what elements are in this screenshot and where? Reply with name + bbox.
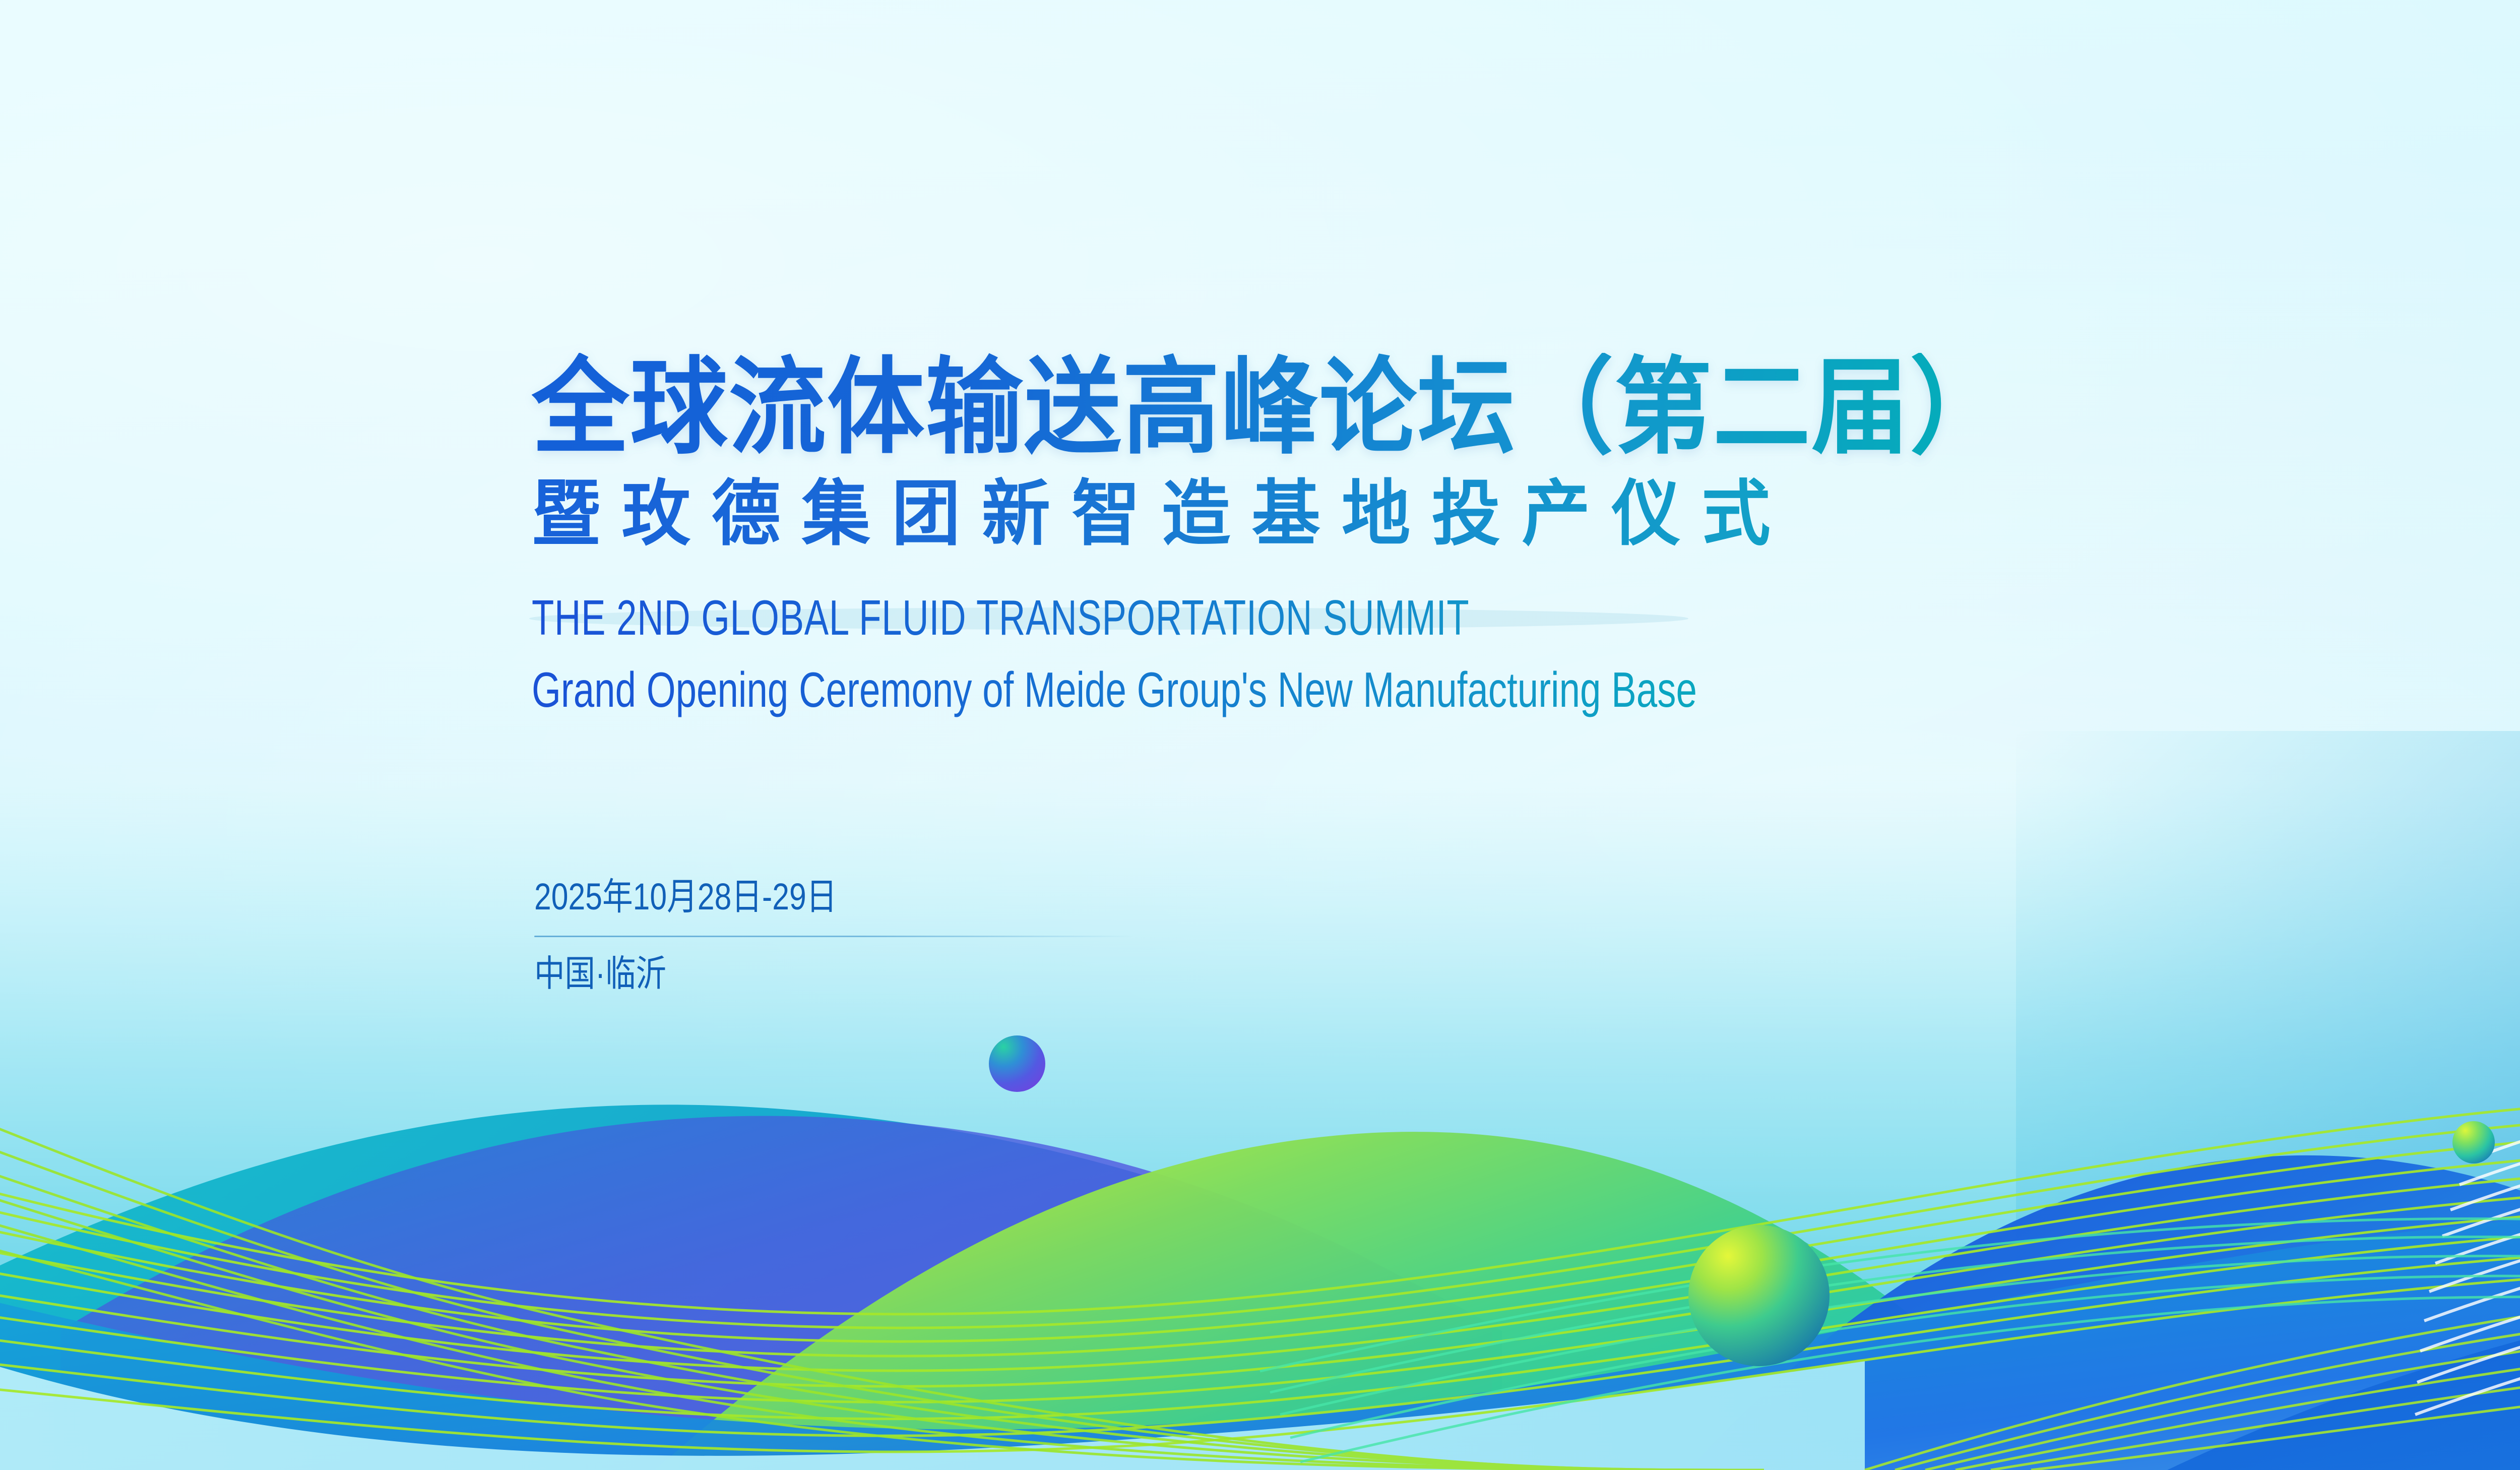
- conference-banner: 全球流体输送高峰论坛（第二届） 暨玫德集团新智造基地投产仪式 THE 2ND G…: [0, 0, 2520, 1470]
- event-date: 2025年10月28日-29日: [534, 877, 1154, 916]
- meta-divider: [534, 936, 1134, 937]
- sphere-main-lime-teal: [1688, 1225, 1830, 1366]
- headline-block: 全球流体输送高峰论坛（第二届） 暨玫德集团新智造基地投产仪式 THE 2ND G…: [532, 353, 2520, 718]
- english-subtitle: Grand Opening Ceremony of Meide Group's …: [532, 662, 2140, 718]
- event-meta-block: 2025年10月28日-29日 中国·临沂: [534, 877, 1290, 993]
- sphere-small-upper-left: [989, 1035, 1045, 1092]
- english-title: THE 2ND GLOBAL FLUID TRANSPORTATION SUMM…: [532, 590, 2098, 646]
- event-location: 中国·临沂: [534, 955, 1169, 994]
- sphere-small-lime: [2452, 1121, 2495, 1163]
- background-artwork: [0, 0, 2520, 1470]
- page-title: 全球流体输送高峰论坛（第二届）: [532, 353, 2500, 463]
- page-subtitle: 暨玫德集团新智造基地投产仪式: [532, 475, 2520, 554]
